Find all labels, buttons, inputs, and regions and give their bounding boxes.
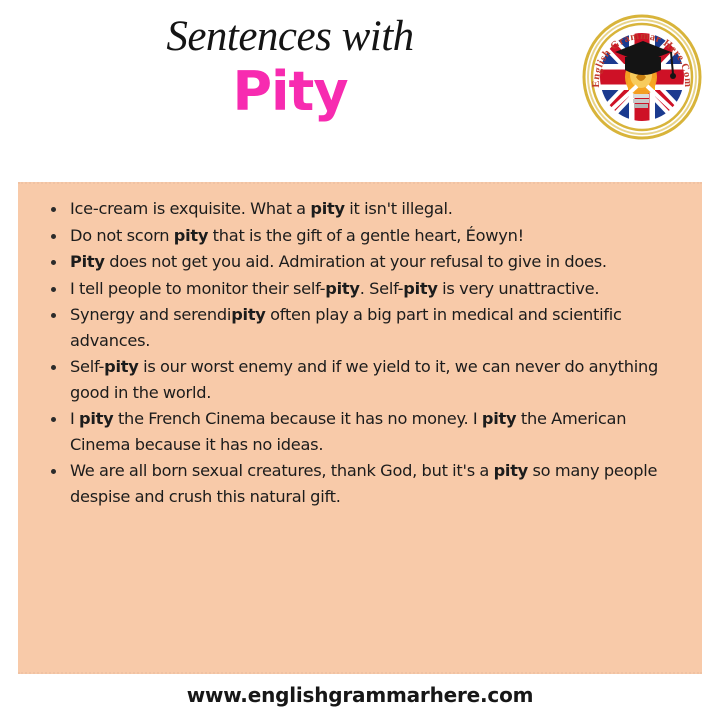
title-block: Sentences with Pity [0, 14, 580, 121]
sentence-text: I [70, 409, 79, 428]
sentence-text: I tell people to monitor their self- [70, 279, 325, 298]
sentence-text: is very unattractive. [438, 279, 600, 298]
website-url[interactable]: www.englishgrammarhere.com [187, 683, 534, 707]
sentence-item: Self-pity is our worst enemy and if we y… [44, 354, 684, 405]
poster-page: Sentences with Pity [0, 0, 720, 720]
keyword-highlight: pity [231, 305, 265, 324]
sentence-text: it isn't illegal. [345, 199, 453, 218]
keyword-highlight: pity [310, 199, 344, 218]
sentence-text: is our worst enemy and if we yield to it… [70, 357, 658, 402]
sentence-text: does not get you aid. Admiration at your… [105, 252, 607, 271]
keyword-highlight: pity [79, 409, 113, 428]
keyword-highlight: pity [494, 461, 528, 480]
poster-header: Sentences with Pity [0, 0, 720, 176]
keyword-title: Pity [0, 64, 580, 121]
sentence-text: that is the gift of a gentle heart, Éowy… [208, 226, 524, 245]
sentence-item: Synergy and serendipity often play a big… [44, 302, 684, 353]
sentence-item: We are all born sexual creatures, thank … [44, 458, 684, 509]
keyword-highlight: pity [482, 409, 516, 428]
keyword-highlight: Pity [70, 252, 105, 271]
poster-footer: www.englishgrammarhere.com [0, 683, 720, 707]
sentence-item: Ice-cream is exquisite. What a pity it i… [44, 196, 684, 222]
sentence-list: Ice-cream is exquisite. What a pity it i… [44, 196, 684, 509]
keyword-highlight: pity [325, 279, 359, 298]
sentence-text: Do not scorn [70, 226, 174, 245]
page-title: Sentences with [0, 14, 580, 60]
sentence-text: Ice-cream is exquisite. What a [70, 199, 310, 218]
english-grammar-here-logo[interactable]: English Grammar Here.Com [581, 14, 703, 140]
sentence-text: We are all born sexual creatures, thank … [70, 461, 494, 480]
sentence-text: the French Cinema because it has no mone… [113, 409, 481, 428]
keyword-highlight: pity [104, 357, 138, 376]
sentence-item: Do not scorn pity that is the gift of a … [44, 223, 684, 249]
sentence-item: I pity the French Cinema because it has … [44, 406, 684, 457]
sentence-item: Pity does not get you aid. Admiration at… [44, 249, 684, 275]
sentence-item: I tell people to monitor their self-pity… [44, 276, 684, 302]
keyword-highlight: pity [403, 279, 437, 298]
sentence-text: Self- [70, 357, 104, 376]
keyword-highlight: pity [174, 226, 208, 245]
sentence-text: . Self- [360, 279, 404, 298]
sentence-text: Synergy and serendi [70, 305, 231, 324]
sentences-panel: Ice-cream is exquisite. What a pity it i… [18, 182, 702, 674]
